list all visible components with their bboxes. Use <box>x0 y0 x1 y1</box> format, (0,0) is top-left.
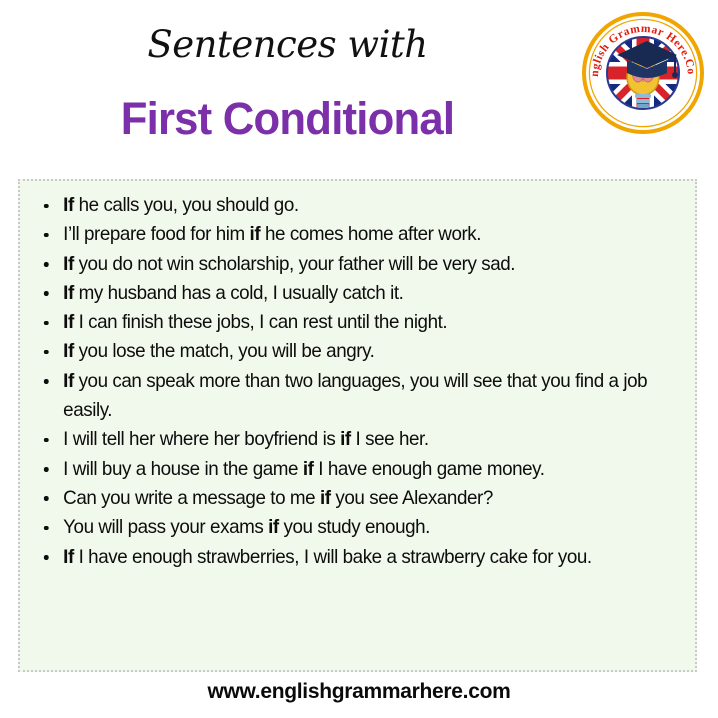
list-item: If I can finish these jobs, I can rest u… <box>40 308 666 337</box>
list-item: If you do not win scholarship, your fath… <box>40 250 666 279</box>
page-title-kicker: Sentences with <box>0 26 575 63</box>
logo-icon: English Grammar Here.Com <box>581 11 705 135</box>
page-header: Sentences with First Conditional <box>0 0 718 178</box>
site-logo-badge: English Grammar Here.Com <box>581 11 705 135</box>
site-url-footer: www.englishgrammarhere.com <box>0 678 718 706</box>
sentence-list: If he calls you, you should go. I’ll pre… <box>20 181 695 572</box>
list-item: If he calls you, you should go. <box>40 191 666 220</box>
sentences-panel: If he calls you, you should go. I’ll pre… <box>18 179 697 672</box>
list-item: If you lose the match, you will be angry… <box>40 337 666 366</box>
page-title: First Conditional <box>9 96 567 141</box>
list-item: You will pass your exams if you study en… <box>40 513 666 542</box>
list-item: I will tell her where her boyfriend is i… <box>40 425 666 454</box>
list-item: I’ll prepare food for him if he comes ho… <box>40 220 666 249</box>
list-item: I will buy a house in the game if I have… <box>40 455 666 484</box>
list-item: If you can speak more than two languages… <box>40 367 666 426</box>
list-item: If I have enough strawberries, I will ba… <box>40 543 666 572</box>
list-item: Can you write a message to me if you see… <box>40 484 666 513</box>
list-item: If my husband has a cold, I usually catc… <box>40 279 666 308</box>
